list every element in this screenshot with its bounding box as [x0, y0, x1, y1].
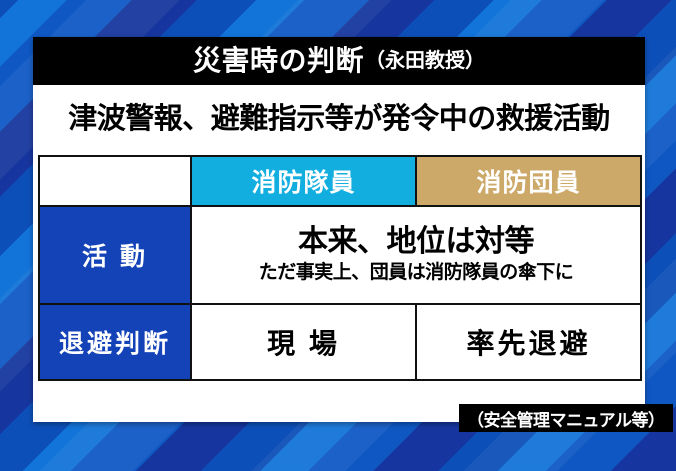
row-label-retreat: 退避判断 — [39, 304, 191, 380]
page-title-attribution: （永田教授） — [365, 51, 485, 71]
activity-sub-text: ただ事実上、団員は消防隊員の傘下に — [192, 262, 640, 285]
infographic-slide: 災害時の判断 （永田教授） 津波警報、避難指示等が発令中の救援活動 消防隊員 消… — [0, 0, 676, 471]
table-header-row: 消防隊員 消防団員 — [39, 156, 641, 206]
row-activity-content: 本来、地位は対等 ただ事実上、団員は消防隊員の傘下に — [191, 206, 641, 304]
page-title: 災害時の判断 — [193, 47, 364, 75]
table-corner-cell — [39, 156, 191, 206]
content-card: 災害時の判断 （永田教授） 津波警報、避難指示等が発令中の救援活動 消防隊員 消… — [33, 37, 645, 422]
column-header-firefighter: 消防隊員 — [191, 156, 416, 206]
title-bar: 災害時の判断 （永田教授） — [33, 37, 645, 85]
comparison-table: 消防隊員 消防団員 活 動 本来、地位は対等 ただ事実上、団員は消防隊員の傘下に… — [38, 155, 642, 381]
subtitle: 津波警報、避難指示等が発令中の救援活動 — [33, 85, 645, 147]
table-row-activity: 活 動 本来、地位は対等 ただ事実上、団員は消防隊員の傘下に — [39, 206, 641, 304]
retreat-value-volunteer: 率先退避 — [416, 304, 641, 380]
table-row-retreat: 退避判断 現 場 率先退避 — [39, 304, 641, 380]
source-note: （安全管理マニュアル等） — [459, 404, 673, 432]
row-label-activity: 活 動 — [39, 206, 191, 304]
retreat-value-firefighter: 現 場 — [191, 304, 416, 380]
column-header-volunteer: 消防団員 — [416, 156, 641, 206]
activity-main-text: 本来、地位は対等 — [192, 225, 640, 260]
